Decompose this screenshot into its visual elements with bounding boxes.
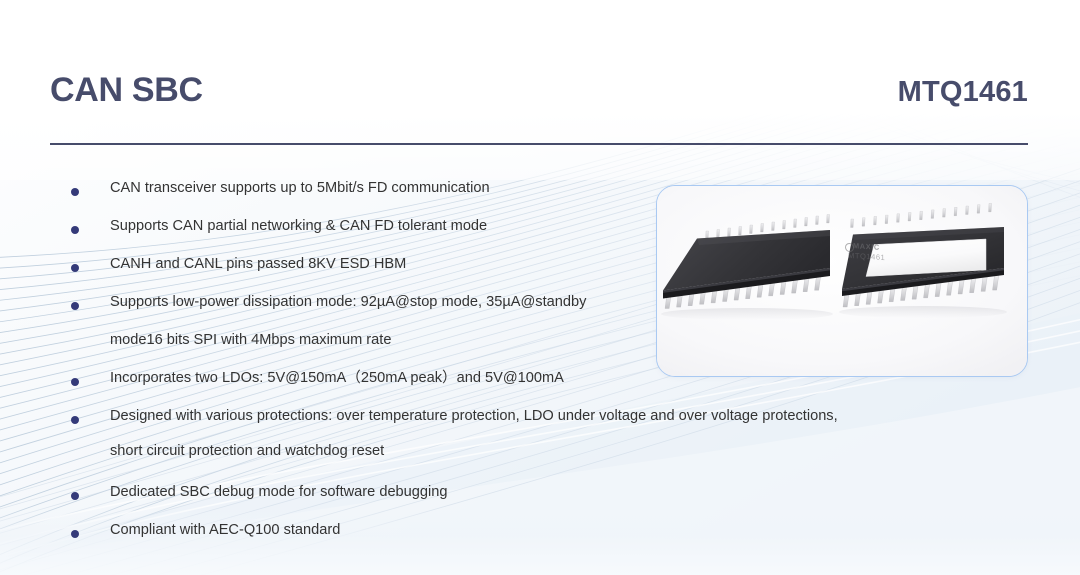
list-item-label: Compliant with AEC-Q100 standard [110,521,340,539]
list-item: Dedicated SBC debug mode for software de… [0,480,960,518]
product-image-frame: MAXIC MTQ1461 [656,185,1028,377]
slide-canvas: CAN SBC MTQ1461 CAN transceiver supports… [0,0,1080,575]
list-item: Compliant with AEC-Q100 standard [0,518,960,556]
bullet-icon [71,492,79,500]
list-item-label-continuation: short circuit protection and watchdog re… [110,442,384,460]
product-chip-illustration [657,186,1027,376]
list-item-label: Incorporates two LDOs: 5V@150mA（250mA pe… [110,369,564,387]
bullet-icon [71,188,79,196]
list-item-label: Supports CAN partial networking & CAN FD… [110,217,487,235]
slide-header: CAN SBC MTQ1461 [0,0,1080,150]
page-title: CAN SBC [50,73,203,107]
list-item-label: Dedicated SBC debug mode for software de… [110,483,448,501]
part-number-label: MTQ1461 [898,78,1028,107]
bullet-icon [71,264,79,272]
list-item-label: CAN transceiver supports up to 5Mbit/s F… [110,179,490,197]
bullet-icon [71,530,79,538]
bullet-icon [71,378,79,386]
list-item: Designed with various protections: over … [0,404,960,480]
bullet-icon [71,302,79,310]
list-item-label: CANH and CANL pins passed 8KV ESD HBM [110,255,406,273]
header-divider [50,143,1028,145]
list-item-label-continuation: mode16 bits SPI with 4Mbps maximum rate [110,331,391,349]
bullet-icon [71,416,79,424]
list-item-label: Designed with various protections: over … [110,407,838,425]
list-item-label: Supports low-power dissipation mode: 92µ… [110,293,586,311]
maxic-logo-icon [845,242,854,252]
bullet-icon [71,226,79,234]
